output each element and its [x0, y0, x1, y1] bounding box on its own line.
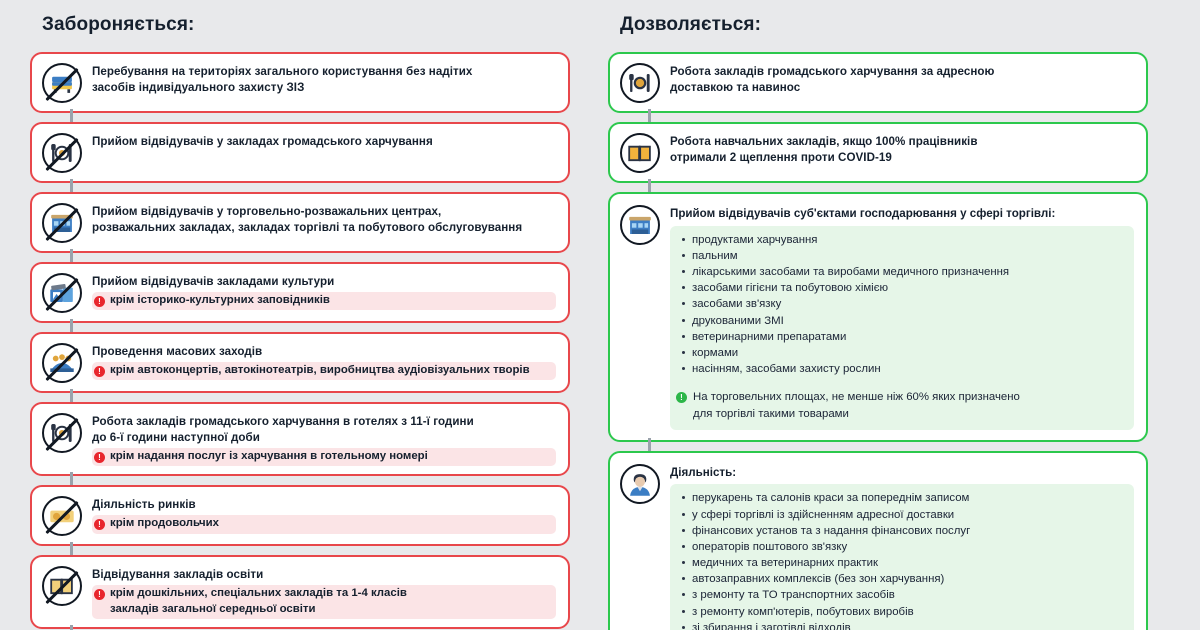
list-item: кормами: [680, 345, 1126, 361]
exception-text: крім продовольчих: [110, 516, 219, 532]
connector-line: [70, 625, 73, 630]
no-mask-public-place-icon: [42, 63, 82, 103]
exception-block: ! крім автоконцертів, автокінотеатрів, в…: [92, 362, 556, 381]
worker-services-icon: [620, 464, 660, 504]
connector-line: [648, 109, 651, 122]
exception-block: ! крім історико-культурних заповідників: [92, 292, 556, 311]
allowed-heading: Дозволяється:: [608, 14, 1148, 36]
list-item: зі збирання і заготівлі відходів: [680, 620, 1126, 630]
note-text: На торговельних площах, не менше ніж 60%…: [693, 389, 1020, 421]
card-title: Проведення масових заходів: [92, 344, 556, 360]
exception-text: крім історико-культурних заповідників: [110, 293, 330, 309]
no-restaurant-icon: [42, 133, 82, 173]
card-title: Робота закладів громадського харчування …: [670, 64, 1134, 96]
connector-line: [70, 109, 73, 122]
info-icon: !: [676, 392, 687, 403]
forbidden-card-education[interactable]: Відвідування закладів освіти ! крім дошк…: [30, 555, 570, 629]
forbidden-card-restaurant[interactable]: Прийом відвідувачів у закладах громадськ…: [30, 122, 570, 183]
exclamation-icon: !: [94, 589, 105, 600]
trade-shop-icon: [620, 205, 660, 245]
list-item: засобами зв'язку: [680, 296, 1126, 312]
no-shopping-mall-icon: [42, 203, 82, 243]
exception-text: крім автоконцертів, автокінотеатрів, вир…: [110, 363, 530, 379]
connector-line: [648, 179, 651, 192]
exclamation-icon: !: [94, 366, 105, 377]
card-title: Прийом відвідувачів у торговельно-розваж…: [92, 204, 556, 236]
list-item: друкованими ЗМІ: [680, 313, 1126, 329]
exception-block: ! крім дошкільних, спеціальних закладів …: [92, 585, 556, 619]
list-item: автозаправних комплексів (без зон харчув…: [680, 571, 1126, 587]
trade-list-box: продуктами харчування пальним лікарським…: [670, 226, 1134, 430]
card-title: Робота закладів громадського харчування …: [92, 414, 556, 446]
trade-bullet-list: продуктами харчування пальним лікарським…: [680, 232, 1126, 378]
connector-line: [70, 179, 73, 192]
no-culture-venue-icon: [42, 273, 82, 313]
exclamation-icon: !: [94, 519, 105, 530]
list-item: засобами гігієни та побутовою хімією: [680, 280, 1126, 296]
list-item: операторів поштового зв'язку: [680, 539, 1126, 555]
trade-note: ! На торговельних площах, не менше ніж 6…: [676, 389, 1126, 421]
forbidden-card-public-place[interactable]: Перебування на територіях загального кор…: [30, 52, 570, 113]
open-book-education-icon: [620, 133, 660, 173]
allowed-column: Дозволяється: Робота закладів громадсько…: [608, 14, 1148, 630]
exception-text: крім дошкільних, спеціальних закладів та…: [110, 586, 407, 617]
infographic-page: Забороняється: Перебування на територіях: [0, 0, 1200, 630]
allowed-card-education[interactable]: Робота навчальних закладів, якщо 100% пр…: [608, 122, 1148, 183]
list-item: перукарень та салонів краси за попередні…: [680, 490, 1126, 506]
allowed-card-delivery[interactable]: Робота закладів громадського харчування …: [608, 52, 1148, 113]
connector-line: [70, 542, 73, 555]
connector-line: [70, 389, 73, 402]
card-title: Перебування на територіях загального кор…: [92, 64, 556, 96]
activities-bullet-list: перукарень та салонів краси за попередні…: [680, 490, 1126, 630]
connector-line: [70, 319, 73, 332]
exclamation-icon: !: [94, 452, 105, 463]
card-title: Прийом відвідувачів закладами культури: [92, 274, 556, 290]
exception-block: ! крім продовольчих: [92, 515, 556, 534]
connector-line: [70, 249, 73, 262]
list-item: насінням, засобами захисту рослин: [680, 361, 1126, 377]
forbidden-card-mass-events[interactable]: Проведення масових заходів ! крім автоко…: [30, 332, 570, 393]
card-title: Діяльність:: [670, 465, 1134, 481]
forbidden-column: Забороняється: Перебування на територіях: [30, 14, 570, 630]
card-title: Прийом відвідувачів у закладах громадськ…: [92, 134, 556, 150]
no-market-icon: [42, 496, 82, 536]
restaurant-delivery-icon: [620, 63, 660, 103]
connector-line: [70, 472, 73, 485]
connector-line: [648, 438, 651, 451]
exception-block: ! крім надання послуг із харчування в го…: [92, 448, 556, 467]
forbidden-card-hotel-restaurant[interactable]: Робота закладів громадського харчування …: [30, 402, 570, 476]
card-title: Відвідування закладів освіти: [92, 567, 556, 583]
no-mass-event-icon: [42, 343, 82, 383]
no-hotel-restaurant-icon: [42, 413, 82, 453]
forbidden-card-markets[interactable]: Діяльність ринків ! крім продовольчих: [30, 485, 570, 546]
list-item: фінансових установ та з надання фінансов…: [680, 523, 1126, 539]
list-item: лікарськими засобами та виробами медично…: [680, 264, 1126, 280]
activities-list-box: перукарень та салонів краси за попередні…: [670, 484, 1134, 630]
card-title: Робота навчальних закладів, якщо 100% пр…: [670, 134, 1134, 166]
list-item: медичних та ветеринарних практик: [680, 555, 1126, 571]
allowed-card-trade[interactable]: Прийом відвідувачів суб'єктами господарю…: [608, 192, 1148, 442]
list-item: з ремонту та ТО транспортних засобів: [680, 587, 1126, 603]
allowed-card-activities[interactable]: Діяльність: перукарень та салонів краси …: [608, 451, 1148, 630]
card-title: Прийом відвідувачів суб'єктами господарю…: [670, 206, 1134, 222]
list-item: у сфері торгівлі із здійсненням адресної…: [680, 507, 1126, 523]
list-item: з ремонту комп'ютерів, побутових виробів: [680, 604, 1126, 620]
exclamation-icon: !: [94, 296, 105, 307]
list-item: продуктами харчування: [680, 232, 1126, 248]
no-education-icon: [42, 566, 82, 606]
forbidden-heading: Забороняється:: [30, 14, 570, 36]
list-item: ветеринарними препаратами: [680, 329, 1126, 345]
card-title: Діяльність ринків: [92, 497, 556, 513]
forbidden-card-mall[interactable]: Прийом відвідувачів у торговельно-розваж…: [30, 192, 570, 253]
exception-text: крім надання послуг із харчування в готе…: [110, 449, 428, 465]
list-item: пальним: [680, 248, 1126, 264]
forbidden-card-culture[interactable]: Прийом відвідувачів закладами культури !…: [30, 262, 570, 323]
